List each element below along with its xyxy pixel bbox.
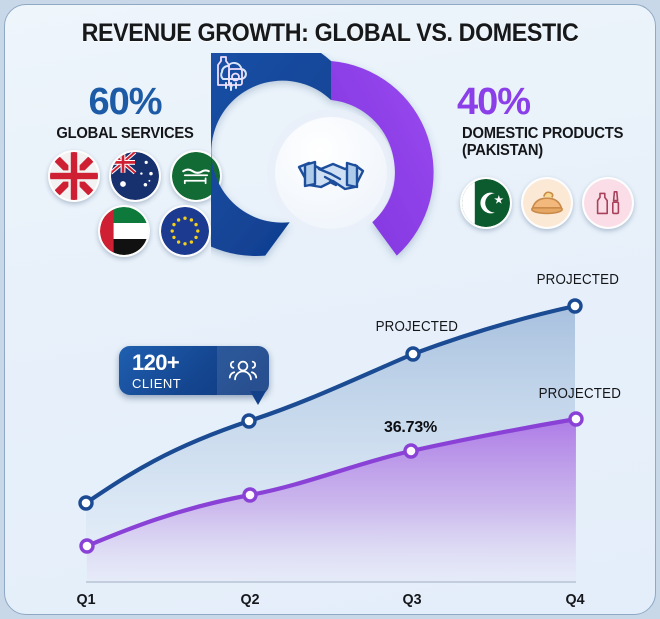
- flag-pakistan-icon: [460, 177, 512, 229]
- domestic-percent: 40%: [457, 83, 656, 121]
- page-title: REVENUE GROWTH: GLOBAL VS. DOMESTIC: [28, 19, 633, 48]
- global-label: GLOBAL SERVICES: [24, 125, 225, 142]
- flag-uk-icon: [48, 150, 100, 202]
- badge-text-group: 120+ CLIENT: [119, 352, 217, 390]
- domestic-label-line1: DOMESTIC PRODUCTS: [462, 125, 652, 142]
- client-label: CLIENT: [132, 377, 217, 390]
- blue-point-q2: [243, 415, 255, 427]
- blue-point-q1: [80, 497, 92, 509]
- domestic-icon-row: [460, 177, 634, 229]
- flag-uae-icon: [98, 205, 150, 257]
- bakery-food-icon: [521, 177, 573, 229]
- x-tick-q3: Q3: [403, 591, 422, 608]
- client-count-badge[interactable]: 120+ CLIENT: [119, 346, 269, 395]
- purple-point-q1: [81, 540, 93, 552]
- flag-australia-icon: [109, 150, 161, 202]
- left-stat-block: 60% GLOBAL SERVICES: [19, 83, 231, 142]
- domestic-label-line2: (PAKISTAN): [462, 142, 652, 159]
- projected-label-blue-q4: PROJECTED: [537, 272, 619, 288]
- donut-chart: [211, 53, 451, 293]
- global-flag-row-1: [48, 150, 222, 202]
- blue-point-q4: [569, 300, 581, 312]
- revenue-line-chart: [5, 263, 656, 615]
- x-tick-q2: Q2: [241, 591, 260, 608]
- purple-point-q3: [405, 445, 417, 457]
- people-group-icon: [217, 346, 269, 395]
- right-stat-block: 40% DOMESTIC PRODUCTS (PAKISTAN): [457, 83, 656, 160]
- projected-label-blue-q3: PROJECTED: [376, 319, 458, 335]
- blue-point-q3: [407, 348, 419, 360]
- projected-label-purple-q4: PROJECTED: [539, 386, 621, 402]
- purple-point-q4: [570, 413, 582, 425]
- global-flag-row-2: [98, 205, 211, 257]
- flag-european-union-icon: [159, 205, 211, 257]
- purple-point-q2: [244, 489, 256, 501]
- x-tick-q4: Q4: [566, 591, 585, 608]
- infographic-card: REVENUE GROWTH: GLOBAL VS. DOMESTIC 60% …: [4, 4, 656, 615]
- x-tick-q1: Q1: [77, 591, 96, 608]
- value-label-purple-q3: 36.73%: [384, 419, 437, 437]
- global-percent: 60%: [19, 83, 231, 121]
- cosmetics-icon: [582, 177, 634, 229]
- client-count: 120+: [132, 352, 217, 374]
- badge-pointer: [250, 391, 266, 405]
